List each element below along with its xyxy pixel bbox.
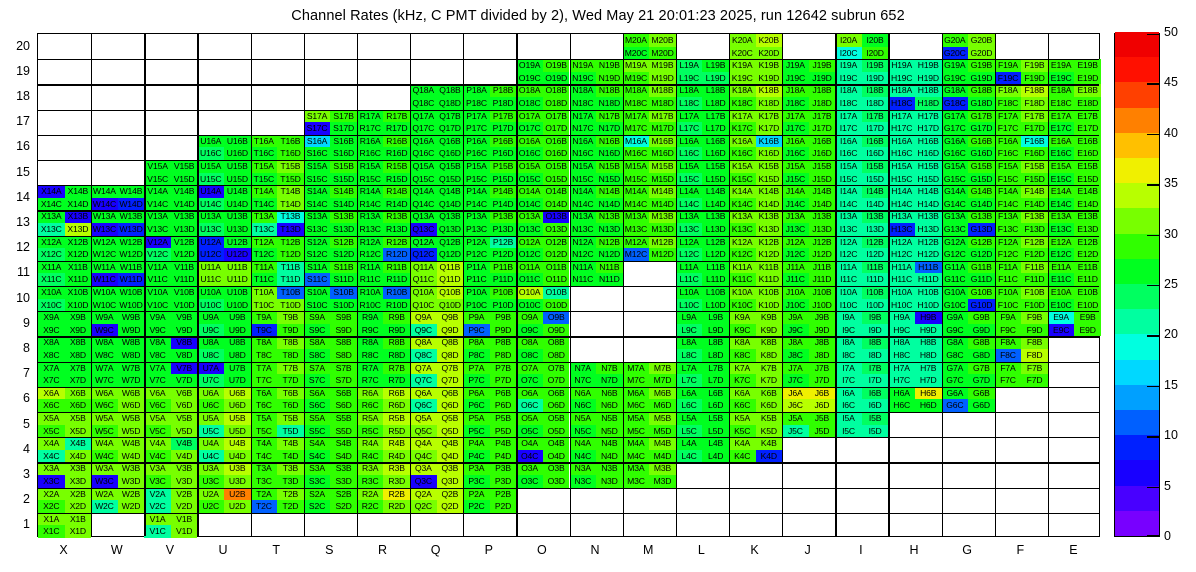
heatmap-subcell: R7C bbox=[357, 374, 384, 387]
heatmap-cell bbox=[357, 513, 410, 538]
heatmap-subcell: I11A bbox=[835, 261, 862, 274]
heatmap-subcell: M5C bbox=[623, 425, 650, 438]
heatmap-subcell: S6B bbox=[330, 387, 357, 400]
heatmap-subcell: R9C bbox=[357, 324, 384, 337]
heatmap-subcell: K6C bbox=[729, 399, 756, 412]
heatmap-cell bbox=[888, 437, 941, 462]
heatmap-subcell: U9D bbox=[224, 324, 251, 337]
heatmap-subcell: L18C bbox=[676, 97, 703, 110]
heatmap-subcell: U11A bbox=[197, 261, 224, 274]
heatmap-cell bbox=[410, 34, 463, 59]
heatmap-subcell: K18D bbox=[756, 97, 783, 110]
heatmap-subcell: K8B bbox=[756, 336, 783, 349]
heatmap-subcell: K19A bbox=[729, 59, 756, 72]
heatmap-subcell: E13A bbox=[1048, 210, 1075, 223]
heatmap-subcell: I14D bbox=[862, 198, 889, 211]
heatmap-subcell: F17B bbox=[1021, 110, 1048, 123]
heatmap-subcell: P12A bbox=[463, 236, 490, 249]
heatmap-subcell: X14B bbox=[65, 185, 92, 198]
heatmap-subcell: S6C bbox=[304, 399, 331, 412]
heatmap-subcell: Q18C bbox=[410, 97, 437, 110]
heatmap-cell bbox=[251, 84, 304, 109]
heatmap-subcell: G20D bbox=[968, 47, 995, 60]
heatmap-cell: Q7AQ7BQ7CQ7D bbox=[410, 362, 463, 387]
heatmap-subcell: Q11B bbox=[437, 261, 464, 274]
heatmap-subcell: R4B bbox=[383, 437, 410, 450]
heatmap-cell bbox=[197, 34, 250, 59]
heatmap-cell: U14AU14BU14CU14D bbox=[197, 185, 250, 210]
heatmap-subcell: N17A bbox=[570, 110, 597, 123]
heatmap-subcell: U13C bbox=[197, 223, 224, 236]
heatmap-subcell: J9A bbox=[782, 311, 809, 324]
heatmap-subcell: L5A bbox=[676, 412, 703, 425]
heatmap-subcell: F10B bbox=[1021, 286, 1048, 299]
heatmap-subcell: W2A bbox=[91, 488, 118, 501]
heatmap-cell bbox=[942, 437, 995, 462]
heatmap-subcell: J6C bbox=[782, 399, 809, 412]
heatmap-cell: M6AM6BM6CM6D bbox=[623, 387, 676, 412]
heatmap-subcell: R16A bbox=[357, 135, 384, 148]
heatmap-subcell: V14C bbox=[144, 198, 171, 211]
heatmap-subcell: F9C bbox=[995, 324, 1022, 337]
heatmap-cell: K6AK6BK6CK6D bbox=[729, 387, 782, 412]
heatmap-subcell: Q10C bbox=[410, 299, 437, 312]
heatmap-subcell: P9D bbox=[490, 324, 517, 337]
heatmap-subcell: X11D bbox=[65, 273, 92, 286]
heatmap-subcell: V14D bbox=[171, 198, 198, 211]
heatmap-subcell: P13C bbox=[463, 223, 490, 236]
heatmap-subcell: V13B bbox=[171, 210, 198, 223]
heatmap-cell bbox=[729, 462, 782, 487]
heatmap-cell: H6AH6BH6CH6D bbox=[888, 387, 941, 412]
heatmap-subcell: I7C bbox=[835, 374, 862, 387]
heatmap-subcell: G12B bbox=[968, 236, 995, 249]
heatmap-subcell: S13D bbox=[330, 223, 357, 236]
heatmap-subcell: R14D bbox=[383, 198, 410, 211]
colorbar-tick-label: 15 bbox=[1164, 378, 1178, 392]
heatmap-subcell: G9D bbox=[968, 324, 995, 337]
heatmap-subcell: W10B bbox=[118, 286, 145, 299]
heatmap-cell: S15AS15BS15CS15D bbox=[304, 160, 357, 185]
heatmap-cell: J13AJ13BJ13CJ13D bbox=[782, 210, 835, 235]
heatmap-cell: R6AR6BR6CR6D bbox=[357, 387, 410, 412]
heatmap-subcell: X2C bbox=[38, 500, 65, 513]
heatmap-subcell: T11C bbox=[251, 273, 278, 286]
colorbar-tick-label: 45 bbox=[1164, 75, 1178, 89]
heatmap-cell: M3AM3BM3CM3D bbox=[623, 462, 676, 487]
heatmap-subcell: G11C bbox=[942, 273, 969, 286]
heatmap-subcell: I20C bbox=[835, 47, 862, 60]
heatmap-subcell: U10A bbox=[197, 286, 224, 299]
heatmap-subcell: P18D bbox=[490, 97, 517, 110]
heatmap-cell: G9AG9BG9CG9D bbox=[942, 311, 995, 336]
heatmap-cell: V14AV14BV14CV14D bbox=[144, 185, 197, 210]
heatmap-subcell: G20A bbox=[942, 34, 969, 47]
heatmap-cell: E16AE16BE16CE16D bbox=[1048, 135, 1101, 160]
heatmap-subcell: F17D bbox=[1021, 122, 1048, 135]
heatmap-subcell: G7B bbox=[968, 362, 995, 375]
heatmap-subcell: W6B bbox=[118, 387, 145, 400]
heatmap-subcell: O6B bbox=[543, 387, 570, 400]
heatmap-subcell: X6A bbox=[38, 387, 65, 400]
heatmap-subcell: O6A bbox=[516, 387, 543, 400]
heatmap-subcell: T12C bbox=[251, 248, 278, 261]
grid-line-horizontal bbox=[38, 336, 1099, 337]
heatmap-subcell: O8D bbox=[543, 349, 570, 362]
heatmap-subcell: O11B bbox=[543, 261, 570, 274]
heatmap-subcell: H15A bbox=[888, 160, 915, 173]
heatmap-subcell: H19D bbox=[915, 72, 942, 85]
heatmap-subcell: H11C bbox=[888, 273, 915, 286]
grid-line-horizontal bbox=[38, 160, 1099, 161]
heatmap-subcell: M14A bbox=[623, 185, 650, 198]
heatmap-subcell: M14D bbox=[649, 198, 676, 211]
colorbar-tick bbox=[1147, 535, 1160, 536]
grid-line-horizontal bbox=[38, 462, 1099, 463]
heatmap-subcell: N14D bbox=[596, 198, 623, 211]
heatmap-cell: U15AU15BU15CU15D bbox=[197, 160, 250, 185]
x-axis-tick-label: U bbox=[196, 543, 250, 557]
heatmap-subcell: P10B bbox=[490, 286, 517, 299]
heatmap-subcell: U12A bbox=[197, 236, 224, 249]
heatmap-cell: K20AK20BK20CK20D bbox=[729, 34, 782, 59]
heatmap-cell bbox=[835, 462, 888, 487]
heatmap-subcell: X5D bbox=[65, 425, 92, 438]
heatmap-cell: H11AH11BH11CH11D bbox=[888, 261, 941, 286]
heatmap-subcell: H17C bbox=[888, 122, 915, 135]
heatmap-subcell: N17D bbox=[596, 122, 623, 135]
heatmap-subcell: R2A bbox=[357, 488, 384, 501]
heatmap-cell: R16AR16BR16CR16D bbox=[357, 135, 410, 160]
heatmap-subcell: T11A bbox=[251, 261, 278, 274]
heatmap-subcell: P4B bbox=[490, 437, 517, 450]
heatmap-cell bbox=[516, 513, 569, 538]
heatmap-subcell: K16B bbox=[756, 135, 783, 148]
heatmap-cell bbox=[144, 110, 197, 135]
heatmap-subcell: M16A bbox=[623, 135, 650, 148]
heatmap-subcell: S7C bbox=[304, 374, 331, 387]
heatmap-subcell: G17C bbox=[942, 122, 969, 135]
heatmap-subcell: P8D bbox=[490, 349, 517, 362]
heatmap-subcell: X4C bbox=[38, 450, 65, 463]
heatmap-subcell: S5B bbox=[330, 412, 357, 425]
heatmap-cell: Q11AQ11BQ11CQ11D bbox=[410, 261, 463, 286]
heatmap-subcell: S17C bbox=[304, 122, 331, 135]
heatmap-subcell: M17C bbox=[623, 122, 650, 135]
x-axis-tick-label: P bbox=[462, 543, 516, 557]
heatmap-subcell: U16C bbox=[197, 147, 224, 160]
heatmap-subcell: S16B bbox=[330, 135, 357, 148]
heatmap-subcell: X9D bbox=[65, 324, 92, 337]
heatmap-subcell: W2B bbox=[118, 488, 145, 501]
heatmap-subcell: P8A bbox=[463, 336, 490, 349]
heatmap-cell: P4AP4BP4CP4D bbox=[463, 437, 516, 462]
y-axis-tick-label: 3 bbox=[0, 467, 30, 481]
heatmap-subcell: K14C bbox=[729, 198, 756, 211]
heatmap-subcell: V15A bbox=[144, 160, 171, 173]
heatmap-subcell: S2A bbox=[304, 488, 331, 501]
heatmap-subcell: L10A bbox=[676, 286, 703, 299]
heatmap-cell: M16AM16BM16CM16D bbox=[623, 135, 676, 160]
heatmap-subcell: S16D bbox=[330, 147, 357, 160]
heatmap-cell: W5AW5BW5CW5D bbox=[91, 412, 144, 437]
heatmap-subcell: G20B bbox=[968, 34, 995, 47]
heatmap-subcell: H16D bbox=[915, 147, 942, 160]
heatmap-cell: R3AR3BR3CR3D bbox=[357, 462, 410, 487]
heatmap-subcell: V5B bbox=[171, 412, 198, 425]
heatmap-subcell: J12B bbox=[809, 236, 836, 249]
heatmap-subcell: V13A bbox=[144, 210, 171, 223]
heatmap-subcell: G10D bbox=[968, 299, 995, 312]
heatmap-subcell: S10D bbox=[330, 299, 357, 312]
heatmap-cell: W14AW14BW14CW14D bbox=[91, 185, 144, 210]
heatmap-subcell: G11D bbox=[968, 273, 995, 286]
heatmap-subcell: J13C bbox=[782, 223, 809, 236]
heatmap-cell: G18AG18BG18CG18D bbox=[942, 84, 995, 109]
heatmap-cell bbox=[91, 34, 144, 59]
heatmap-subcell: T12D bbox=[277, 248, 304, 261]
heatmap-subcell: J19A bbox=[782, 59, 809, 72]
heatmap-cell: F15AF15BF15CF15D bbox=[995, 160, 1048, 185]
heatmap-cell: I10AI10BI10CI10D bbox=[835, 286, 888, 311]
heatmap-subcell: X1C bbox=[38, 525, 65, 538]
heatmap-subcell: S12D bbox=[330, 248, 357, 261]
colorbar-tick bbox=[1147, 285, 1160, 286]
heatmap-cell: T10AT10BT10CT10D bbox=[251, 286, 304, 311]
heatmap-subcell: U3C bbox=[197, 475, 224, 488]
heatmap-subcell: F10C bbox=[995, 299, 1022, 312]
heatmap-subcell: N12C bbox=[570, 248, 597, 261]
heatmap-subcell: U16B bbox=[224, 135, 251, 148]
grid-line-horizontal bbox=[38, 236, 1099, 237]
heatmap-cell: X4AX4BX4CX4D bbox=[38, 437, 91, 462]
heatmap-cell: X9AX9BX9CX9D bbox=[38, 311, 91, 336]
heatmap-cell bbox=[304, 59, 357, 84]
heatmap-subcell: I15B bbox=[862, 160, 889, 173]
heatmap-subcell: K12D bbox=[756, 248, 783, 261]
heatmap-subcell: I9A bbox=[835, 311, 862, 324]
heatmap-subcell: F13D bbox=[1021, 223, 1048, 236]
colorbar-tick bbox=[1147, 83, 1160, 84]
heatmap-subcell: I17D bbox=[862, 122, 889, 135]
heatmap-subcell: P18C bbox=[463, 97, 490, 110]
heatmap-subcell: F19A bbox=[995, 59, 1022, 72]
heatmap-cell: M5AM5BM5CM5D bbox=[623, 412, 676, 437]
heatmap-cell: U8AU8BU8CU8D bbox=[197, 336, 250, 361]
heatmap-subcell: P7D bbox=[490, 374, 517, 387]
heatmap-subcell: J9D bbox=[809, 324, 836, 337]
heatmap-subcell: E14C bbox=[1048, 198, 1075, 211]
heatmap-subcell: V6A bbox=[144, 387, 171, 400]
heatmap-cell: K14AK14BK14CK14D bbox=[729, 185, 782, 210]
heatmap-subcell: O11C bbox=[516, 273, 543, 286]
heatmap-subcell: L10D bbox=[702, 299, 729, 312]
heatmap-subcell: L8B bbox=[702, 336, 729, 349]
heatmap-subcell: L19A bbox=[676, 59, 703, 72]
x-axis-tick-label: L bbox=[674, 543, 728, 557]
heatmap-subcell: U13D bbox=[224, 223, 251, 236]
x-axis-tick-label: T bbox=[249, 543, 303, 557]
heatmap-subcell: N15C bbox=[570, 173, 597, 186]
heatmap-subcell: W4B bbox=[118, 437, 145, 450]
heatmap-subcell: M6B bbox=[649, 387, 676, 400]
heatmap-cell: U12AU12BU12CU12D bbox=[197, 236, 250, 261]
heatmap-subcell: X8D bbox=[65, 349, 92, 362]
heatmap-subcell: I8D bbox=[862, 349, 889, 362]
heatmap-subcell: G14A bbox=[942, 185, 969, 198]
heatmap-subcell: N6B bbox=[596, 387, 623, 400]
heatmap-subcell: H19C bbox=[888, 72, 915, 85]
heatmap-subcell: J8B bbox=[809, 336, 836, 349]
heatmap-cell: X13AX13BX13CX13D bbox=[38, 210, 91, 235]
heatmap-subcell: I20D bbox=[862, 47, 889, 60]
heatmap-subcell: T2C bbox=[251, 500, 278, 513]
heatmap-subcell: O10A bbox=[516, 286, 543, 299]
heatmap-subcell: F19C bbox=[995, 72, 1022, 85]
heatmap-subcell: K4D bbox=[756, 450, 783, 463]
heatmap-subcell: I6D bbox=[862, 399, 889, 412]
heatmap-subcell: S6D bbox=[330, 399, 357, 412]
heatmap-cell bbox=[676, 513, 729, 538]
heatmap-subcell: V8A bbox=[144, 336, 171, 349]
heatmap-subcell: G16C bbox=[942, 147, 969, 160]
heatmap-subcell: L19D bbox=[702, 72, 729, 85]
heatmap-subcell: X2A bbox=[38, 488, 65, 501]
heatmap-subcell: O15D bbox=[543, 173, 570, 186]
heatmap-subcell: M13A bbox=[623, 210, 650, 223]
heatmap-subcell: Q12C bbox=[410, 248, 437, 261]
heatmap-subcell: Q8B bbox=[437, 336, 464, 349]
heatmap-subcell: F7A bbox=[995, 362, 1022, 375]
heatmap-subcell: P15B bbox=[490, 160, 517, 173]
heatmap-cell: P8AP8BP8CP8D bbox=[463, 336, 516, 361]
heatmap-subcell: O16D bbox=[543, 147, 570, 160]
heatmap-subcell: J6D bbox=[809, 399, 836, 412]
heatmap-subcell: X11C bbox=[38, 273, 65, 286]
heatmap-subcell: O3C bbox=[516, 475, 543, 488]
heatmap-subcell: R8C bbox=[357, 349, 384, 362]
heatmap-cell: U5AU5BU5CU5D bbox=[197, 412, 250, 437]
heatmap-subcell: J7C bbox=[782, 374, 809, 387]
heatmap-subcell: Q9A bbox=[410, 311, 437, 324]
heatmap-subcell: V6B bbox=[171, 387, 198, 400]
grid-line-horizontal bbox=[38, 488, 1099, 489]
heatmap-subcell: V15D bbox=[171, 173, 198, 186]
heatmap-cell: N15AN15BN15CN15D bbox=[570, 160, 623, 185]
heatmap-subcell: N4C bbox=[570, 450, 597, 463]
heatmap-cell: O19AO19BO19CO19D bbox=[516, 59, 569, 84]
heatmap-subcell: T5B bbox=[277, 412, 304, 425]
heatmap-subcell: G14C bbox=[942, 198, 969, 211]
heatmap-subcell: J16B bbox=[809, 135, 836, 148]
heatmap-cell: R17AR17BR17CR17D bbox=[357, 110, 410, 135]
heatmap-subcell: E9D bbox=[1074, 324, 1101, 337]
heatmap-cell: R13AR13BR13CR13D bbox=[357, 210, 410, 235]
heatmap-subcell: Q9B bbox=[437, 311, 464, 324]
x-axis-tick-label: S bbox=[302, 543, 356, 557]
heatmap-subcell: Q17B bbox=[437, 110, 464, 123]
heatmap-subcell: V13C bbox=[144, 223, 171, 236]
heatmap-subcell: P4C bbox=[463, 450, 490, 463]
heatmap-subcell: M14B bbox=[649, 185, 676, 198]
heatmap-subcell: Q9D bbox=[437, 324, 464, 337]
heatmap-subcell: L12C bbox=[676, 248, 703, 261]
heatmap-subcell: K11D bbox=[756, 273, 783, 286]
heatmap-subcell: X6D bbox=[65, 399, 92, 412]
heatmap-subcell: P10C bbox=[463, 299, 490, 312]
heatmap-subcell: N7D bbox=[596, 374, 623, 387]
heatmap-subcell: J9C bbox=[782, 324, 809, 337]
heatmap-cell: W8AW8BW8CW8D bbox=[91, 336, 144, 361]
heatmap-subcell: R5D bbox=[383, 425, 410, 438]
heatmap-cell bbox=[835, 437, 888, 462]
heatmap-subcell: T2D bbox=[277, 500, 304, 513]
heatmap-subcell: M4A bbox=[623, 437, 650, 450]
heatmap-subcell: Q17A bbox=[410, 110, 437, 123]
heatmap-cell: K18AK18BK18CK18D bbox=[729, 84, 782, 109]
heatmap-cell: H12AH12BH12CH12D bbox=[888, 236, 941, 261]
heatmap-subcell: U2D bbox=[224, 500, 251, 513]
heatmap-subcell: O15A bbox=[516, 160, 543, 173]
heatmap-subcell: F18D bbox=[1021, 97, 1048, 110]
heatmap-subcell: S12C bbox=[304, 248, 331, 261]
heatmap-subcell: J11C bbox=[782, 273, 809, 286]
heatmap-cell: T13AT13BT13CT13D bbox=[251, 210, 304, 235]
heatmap-subcell: P5A bbox=[463, 412, 490, 425]
heatmap-subcell: I6C bbox=[835, 399, 862, 412]
heatmap-subcell: I20B bbox=[862, 34, 889, 47]
heatmap-subcell: M14C bbox=[623, 198, 650, 211]
heatmap-subcell: W13B bbox=[118, 210, 145, 223]
heatmap-subcell: M3B bbox=[649, 462, 676, 475]
heatmap-subcell: W5D bbox=[118, 425, 145, 438]
heatmap-cell bbox=[410, 59, 463, 84]
heatmap-subcell: N11C bbox=[570, 273, 597, 286]
heatmap-subcell: Q18A bbox=[410, 84, 437, 97]
x-axis-tick-label: H bbox=[887, 543, 941, 557]
heatmap-subcell: E16D bbox=[1074, 147, 1101, 160]
heatmap-cell bbox=[38, 110, 91, 135]
heatmap-subcell: X10B bbox=[65, 286, 92, 299]
heatmap-subcell: E16B bbox=[1074, 135, 1101, 148]
heatmap-cell: R5AR5BR5CR5D bbox=[357, 412, 410, 437]
heatmap-subcell: M6C bbox=[623, 399, 650, 412]
heatmap-subcell: H19A bbox=[888, 59, 915, 72]
heatmap-subcell: K10A bbox=[729, 286, 756, 299]
heatmap-subcell: M6D bbox=[649, 399, 676, 412]
heatmap-cell bbox=[463, 513, 516, 538]
heatmap-subcell: O17A bbox=[516, 110, 543, 123]
heatmap-subcell: O5D bbox=[543, 425, 570, 438]
heatmap-subcell: E18D bbox=[1074, 97, 1101, 110]
heatmap-subcell: V6D bbox=[171, 399, 198, 412]
heatmap-cell bbox=[623, 488, 676, 513]
heatmap-cell: Q3AQ3BQ3CQ3D bbox=[410, 462, 463, 487]
heatmap-subcell: O7A bbox=[516, 362, 543, 375]
heatmap-cell: L15AL15BL15CL15D bbox=[676, 160, 729, 185]
heatmap-subcell: R14A bbox=[357, 185, 384, 198]
x-axis-tick-label: X bbox=[37, 543, 91, 557]
heatmap-cell bbox=[463, 34, 516, 59]
heatmap-subcell: H16C bbox=[888, 147, 915, 160]
heatmap-cell bbox=[888, 513, 941, 538]
heatmap-subcell: Q4A bbox=[410, 437, 437, 450]
heatmap-subcell: G10A bbox=[942, 286, 969, 299]
heatmap-subcell: L14B bbox=[702, 185, 729, 198]
heatmap-cell: K17AK17BK17CK17D bbox=[729, 110, 782, 135]
heatmap-subcell: U2A bbox=[197, 488, 224, 501]
heatmap-subcell: N6D bbox=[596, 399, 623, 412]
